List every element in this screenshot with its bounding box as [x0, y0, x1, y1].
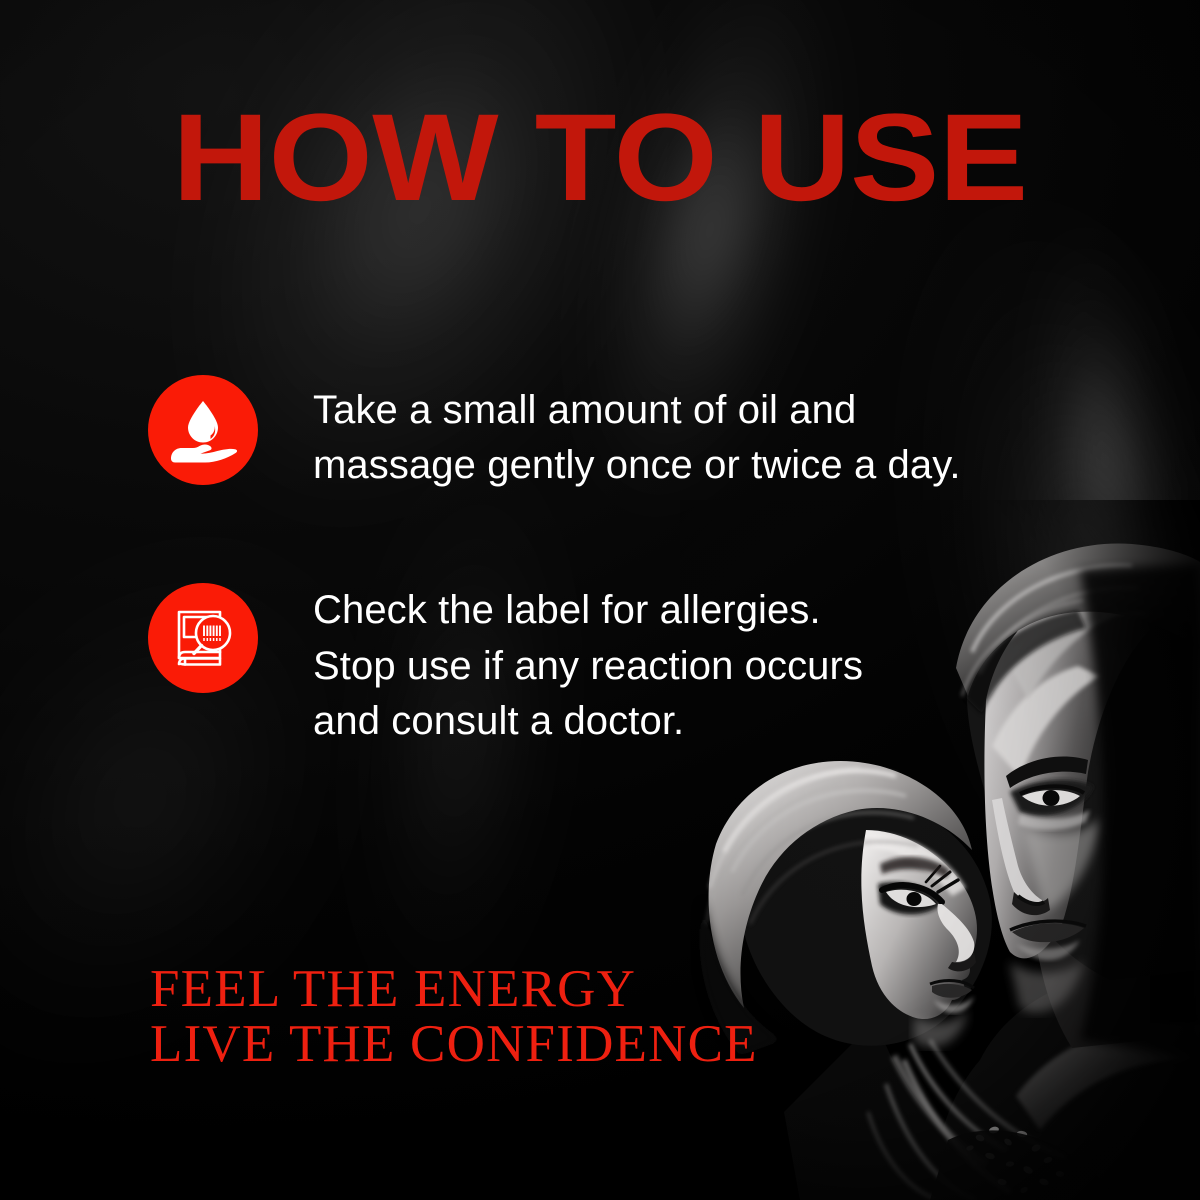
step-text: Take a small amount of oil and massage g…	[313, 375, 961, 493]
list-item: Take a small amount of oil and massage g…	[148, 375, 1048, 493]
label-barcode-magnifier-icon	[148, 583, 258, 693]
brand-tagline: FEEL THE ENERGY LIVE THE CONFIDENCE	[150, 962, 758, 1072]
step-line: Check the label for allergies.	[313, 583, 863, 638]
tagline-line-2: LIVE THE CONFIDENCE	[150, 1017, 758, 1072]
step-text: Check the label for allergies. Stop use …	[313, 583, 863, 749]
step-line: Take a small amount of oil and	[313, 383, 961, 438]
step-line: and consult a doctor.	[313, 694, 863, 749]
step-line: Stop use if any reaction occurs	[313, 639, 863, 694]
instruction-steps-list: Take a small amount of oil and massage g…	[148, 375, 1048, 749]
tagline-line-1: FEEL THE ENERGY	[150, 962, 758, 1017]
list-item: Check the label for allergies. Stop use …	[148, 583, 1048, 749]
step-line: massage gently once or twice a day.	[313, 438, 961, 493]
how-to-use-poster: HOW TO USE Take a small amount of oil an…	[0, 0, 1200, 1200]
page-title: HOW TO USE	[0, 96, 1200, 220]
hand-with-oil-drop-icon	[148, 375, 258, 485]
